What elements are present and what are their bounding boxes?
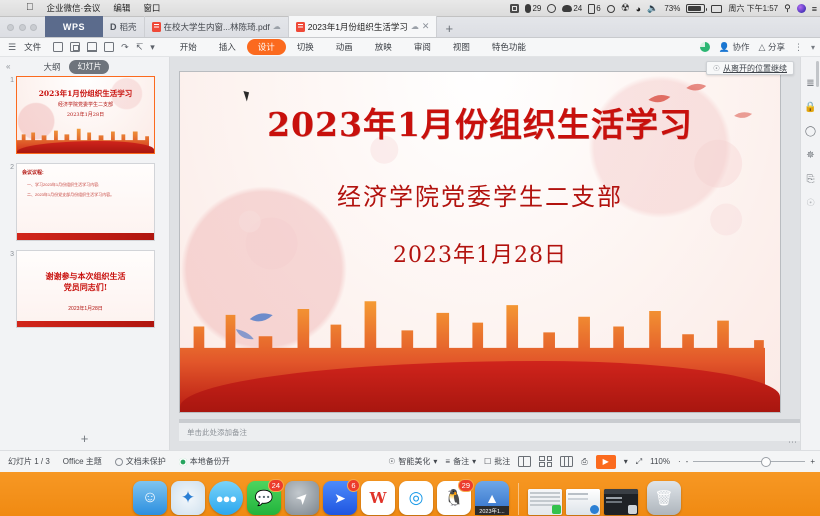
bluetooth-icon[interactable]: ☢ (621, 3, 630, 14)
cloud-sync-icon[interactable]: ☁ (411, 22, 419, 31)
screen:  企业微信·会议 编辑 窗口 29 24 6 ☢ ◕ 🔈 73% 周六 下午1… (0, 0, 820, 516)
slide-date[interactable]: 2023年1月28日 (180, 237, 780, 269)
screenshot-icon[interactable]: ⎘ (804, 173, 817, 186)
dropbox-count: 29 (532, 4, 541, 13)
share-label: 分享 (768, 41, 785, 53)
docer-icon: D (110, 22, 117, 32)
thumb-date: 2023年1月28日 (17, 111, 154, 118)
person-icon: 👤 (719, 42, 730, 53)
hamburger-icon[interactable]: ☰ (8, 42, 16, 53)
keyboard-layout-icon[interactable] (711, 5, 722, 13)
apple-icon[interactable]:  (26, 3, 34, 13)
minimized-window-wechat[interactable] (528, 489, 562, 515)
zoom-reset-icon[interactable]: · (678, 457, 681, 466)
pdf-file-icon (152, 22, 161, 32)
wps-w-icon: W (370, 489, 387, 507)
file-menu-button[interactable]: 文件 (24, 41, 41, 53)
clock-label[interactable]: 周六 下午1:57 (728, 3, 778, 14)
share-icon: △ (759, 42, 766, 53)
menu-item-edit[interactable]: 编辑 (113, 2, 130, 14)
quick-access-toolbar: ↷ ↸ ▾ (53, 42, 155, 53)
slide-number: 3 (0, 250, 14, 258)
slide-sorter-icon[interactable] (539, 456, 552, 467)
slide-title[interactable]: 2023年1月份组织生活学习 (180, 98, 780, 146)
dock-item-messages[interactable]: ●●● (209, 481, 243, 515)
volume-icon[interactable]: 🔈 (647, 3, 658, 14)
dock-item-qq[interactable]: 🐧 29 (437, 481, 471, 515)
play-options-icon[interactable]: ▾ (624, 457, 628, 466)
wechat-badge-icon (552, 505, 561, 514)
tab-pdf-document[interactable]: 在校大学生内窗...林陈琦.pdf ☁ (145, 16, 289, 37)
add-slide-button[interactable]: + (0, 431, 169, 446)
finder-icon: ☺ (142, 489, 158, 507)
presenter-view-icon[interactable]: ⎙ (581, 457, 587, 467)
thumb-title-line1: 谢谢参与本次组织生活 (46, 271, 126, 281)
print-icon[interactable] (87, 42, 97, 52)
dock-item-finder[interactable]: ☺ (133, 481, 167, 515)
search-icon[interactable]: ⚲ (784, 3, 791, 14)
browser-badge-icon (590, 505, 599, 514)
collaborate-label: 协作 (733, 41, 750, 53)
close-tab-icon[interactable]: ✕ (422, 21, 430, 32)
wechat-icon: 💬 (255, 489, 274, 507)
comment-icon: ☐ (484, 457, 491, 466)
slide-thumbnail-2[interactable]: 会议议程: 一、学习2023年1月份组织生活学习内容; 二、2023年1月份党支… (16, 163, 155, 241)
backup-label: 本地备份开 (190, 456, 230, 467)
wechat-status-icon[interactable]: 24 (562, 4, 582, 13)
preview-lines (568, 493, 588, 495)
collapse-left-icon[interactable]: « (6, 62, 10, 71)
more-vertical-icon[interactable]: ⋮ (794, 42, 802, 53)
siri-icon[interactable] (547, 4, 556, 13)
status-right-group: ☉ 智能美化 ▾ ≡ 备注 ▾ ☐ 批注 ⎙ ▶ ▾ ⤢ 110% · (388, 455, 815, 469)
slide-number: 2 (0, 163, 14, 171)
cloud-sync-icon[interactable]: ☁ (273, 22, 281, 31)
panel-header: « 大纲 幻灯片 (0, 57, 169, 76)
notes-button[interactable]: ≡ 备注 ▾ (445, 456, 476, 467)
redo-icon[interactable]: ↸ (136, 42, 144, 53)
os-menu-bar:  企业微信·会议 编辑 窗口 29 24 6 ☢ ◕ 🔈 73% 周六 下午1… (0, 0, 820, 17)
tab-label: 2023年1月份组织生活学习 (308, 21, 408, 33)
slide-number: 1 (0, 76, 14, 84)
fit-to-window-icon[interactable]: ⤢ (636, 457, 642, 467)
app-count: 6 (596, 4, 600, 13)
maximize-window-button[interactable] (30, 24, 37, 31)
dock-item-wps-presentation[interactable]: ▲ 2023年1... (475, 481, 509, 515)
save-icon[interactable] (53, 42, 63, 52)
theme-label[interactable]: Office 主题 (63, 456, 102, 467)
zoom-slider[interactable]: · - + (678, 457, 815, 466)
tab-label: 稻壳 (120, 21, 137, 33)
outline-tab[interactable]: 大纲 (43, 61, 60, 73)
preview-lines (606, 497, 622, 499)
dropbox-icon[interactable]: 29 (525, 4, 541, 13)
list-item[interactable]: 1 2023年1月份组织生活学习 经济学院党委学生二支部 2023年1月28日 (0, 76, 169, 154)
wps-logo[interactable]: WPS (45, 16, 103, 37)
tab-docer[interactable]: D 稻壳 (103, 16, 145, 37)
zoom-track[interactable] (693, 461, 805, 462)
badge-count: 6 (347, 479, 360, 492)
ribbon-right-actions: 👤 协作 △ 分享 ⋮ ▾ (700, 41, 815, 53)
history-clock-icon[interactable]: ◯ (804, 125, 817, 138)
right-tool-rail: ≣ 🔒 ◯ ✵ ⎘ ☉ (800, 57, 820, 450)
rocket-icon: ➤ (291, 487, 313, 509)
protection-label: 文档未保护 (126, 456, 166, 467)
calendar-icon[interactable] (510, 4, 519, 13)
resume-position-tooltip[interactable]: ☉ 从离开的位置继续 (706, 61, 794, 75)
beautify-label: 智能美化 (398, 456, 430, 467)
dock-item-wechat[interactable]: 💬 24 (247, 481, 281, 515)
slide-subtitle[interactable]: 经济学院党委学生二支部 (180, 177, 780, 212)
dock-item-label: 2023年1... (475, 506, 509, 515)
tab-strip: WPS D 稻壳 在校大学生内窗...林陈琦.pdf ☁ 2023年1月份组织生… (0, 17, 820, 38)
zoom-out-button[interactable]: - (686, 457, 689, 466)
ribbon-tabs: 开始 插入 设计 切换 动画 放映 审阅 视图 特色功能 (169, 39, 537, 55)
notes-pane[interactable]: 单击此处添加备注 (179, 419, 800, 441)
slide-thumbnail-3[interactable]: 谢谢参与本次组织生活 党员同志们! 2023年1月28日 (16, 250, 155, 328)
more-horizontal-icon[interactable]: ⋯ (788, 437, 796, 448)
speech-bubble-icon: ●●● (216, 491, 237, 506)
beautify-icon: ☉ (388, 457, 395, 466)
zoom-level-label[interactable]: 110% (650, 457, 670, 466)
badge-count: 24 (268, 479, 284, 492)
slides-tab[interactable]: 幻灯片 (69, 60, 109, 74)
badge-count: 29 (458, 479, 474, 492)
wechat-count: 24 (573, 4, 582, 13)
slide-counter[interactable]: 幻灯片 1 / 3 (8, 456, 50, 467)
tab-animations[interactable]: 动画 (325, 41, 364, 53)
minimize-window-button[interactable] (19, 24, 26, 31)
dock-item-qq-browser[interactable]: ◎ (399, 481, 433, 515)
notes-placeholder[interactable]: 单击此处添加备注 (179, 423, 800, 438)
backup-on-icon (179, 458, 187, 466)
tab-slideshow[interactable]: 放映 (364, 41, 403, 53)
tab-view[interactable]: 视图 (442, 41, 481, 53)
thumb-subtitle: 经济学院党委学生二支部 (17, 101, 154, 108)
dock-item-trash[interactable]: 🗑 (647, 481, 681, 515)
notification-list-icon[interactable]: ≡ (812, 4, 816, 14)
menu-item-app-name[interactable]: 企业微信·会议 (47, 2, 101, 14)
os-status-items: 29 24 6 ☢ ◕ 🔈 73% 周六 下午1:57 ⚲ ≡ (510, 0, 816, 17)
beautify-star-icon[interactable]: ✵ (804, 149, 817, 162)
footer-band (17, 321, 154, 327)
tab-transitions[interactable]: 切换 (286, 41, 325, 53)
comment-label: 批注 (494, 456, 510, 467)
dock: ☺ ✦ ●●● 💬 24 ➤ ➤ 6 (0, 472, 820, 516)
app-status-icon[interactable]: 6 (588, 4, 600, 14)
tab-insert[interactable]: 插入 (208, 41, 247, 53)
dock-divider (518, 483, 519, 515)
minimized-window-terminal[interactable] (604, 489, 638, 515)
new-tab-button[interactable]: + (437, 22, 461, 37)
resume-label: 从离开的位置继续 (723, 63, 787, 74)
wifi-icon[interactable]: ◕ (636, 4, 641, 14)
list-item[interactable]: 3 谢谢参与本次组织生活 党员同志们! 2023年1月28日 (0, 250, 169, 328)
dock-item-wps-office[interactable]: W (361, 481, 395, 515)
terminal-badge-icon (628, 505, 637, 514)
status-bar: 幻灯片 1 / 3 Office 主题 文档未保护 本地备份开 ☉ 智能美化 ▾… (0, 450, 820, 472)
location-history-icon: ☉ (713, 64, 720, 73)
zoom-in-button[interactable]: + (810, 457, 815, 466)
dock-items: ☺ ✦ ●●● 💬 24 ➤ ➤ 6 (133, 481, 681, 515)
thumb-title: 2023年1月份组织生活学习 (17, 88, 154, 99)
list-item[interactable]: 2 会议议程: 一、学习2023年1月份组织生活学习内容; 二、2023年1月份… (0, 163, 169, 241)
smart-beautify-button[interactable]: ☉ 智能美化 ▾ (388, 456, 437, 467)
print-preview-icon[interactable] (104, 42, 114, 52)
slide-thumbnail-list[interactable]: 1 2023年1月份组织生活学习 经济学院党委学生二支部 2023年1月28日 (0, 76, 169, 424)
close-window-button[interactable] (7, 24, 14, 31)
thumb-line-2: 二、2023年1月份党支部月份组织生活学习内容。 (27, 191, 149, 199)
customize-icon[interactable]: ▾ (150, 42, 155, 53)
preview-lines (530, 492, 560, 494)
battery-icon[interactable] (686, 4, 705, 13)
backup-status[interactable]: 本地备份开 (179, 456, 230, 467)
slide-thumbnail-1[interactable]: 2023年1月份组织生活学习 经济学院党委学生二支部 2023年1月28日 (16, 76, 155, 154)
battery-percent: 73% (664, 4, 680, 13)
dock-item-safari[interactable]: ✦ (171, 481, 205, 515)
current-slide[interactable]: 2023年1月份组织生活学习 经济学院党委学生二支部 2023年1月28日 (179, 71, 781, 413)
paper-plane-icon: ➤ (334, 490, 346, 507)
thumb-title-line2: 党员同志们! (64, 282, 108, 292)
protection-status[interactable]: 文档未保护 (115, 456, 166, 467)
trash-icon: 🗑 (654, 489, 673, 507)
chevron-down-icon: ▾ (472, 457, 476, 466)
lock-shield-icon[interactable]: 🔒 (804, 101, 817, 114)
status-left-group: 幻灯片 1 / 3 Office 主题 文档未保护 本地备份开 (0, 456, 230, 467)
power-icon[interactable] (607, 5, 615, 13)
share-button[interactable]: △ 分享 (759, 41, 785, 53)
chevron-down-icon[interactable]: ▾ (811, 43, 815, 52)
mountain-icon: ▲ (485, 490, 499, 506)
sync-status-icon[interactable] (700, 42, 710, 52)
window-controls[interactable] (0, 24, 37, 37)
qq-browser-icon: ◎ (409, 488, 424, 508)
reading-view-icon[interactable] (560, 456, 573, 467)
notes-icon: ≡ (445, 457, 450, 466)
normal-view-icon[interactable] (518, 456, 531, 467)
tab-start[interactable]: 开始 (169, 41, 208, 53)
safari-compass-icon: ✦ (181, 488, 195, 508)
play-slideshow-button[interactable]: ▶ (596, 455, 616, 469)
tab-review[interactable]: 审阅 (403, 41, 442, 53)
notes-label: 备注 (453, 456, 469, 467)
help-circle-icon[interactable]: ☉ (804, 197, 817, 210)
preview-titlebar (604, 489, 638, 494)
chevron-down-icon: ▾ (433, 457, 437, 466)
tab-special-features[interactable]: 特色功能 (481, 41, 537, 53)
slide-navigator-panel: « 大纲 幻灯片 1 2023年1月份组织生活学习 经济学院党委学生二支部 (0, 57, 170, 450)
menu-item-window[interactable]: 窗口 (143, 2, 160, 14)
tab-design[interactable]: 设计 (247, 39, 286, 55)
footer-band (17, 233, 154, 240)
slide-edit-area[interactable]: 2023年1月份组织生活学习 经济学院党委学生二支部 2023年1月28日 ☉ … (170, 57, 800, 450)
tab-label: 在校大学生内窗...林陈琦.pdf (164, 21, 270, 33)
thumb-line-1: 一、学习2023年1月份组织生活学习内容; (27, 181, 149, 189)
tab-active-presentation[interactable]: 2023年1月份组织生活学习 ☁ ✕ (289, 16, 438, 37)
ribbon-bar: ☰ 文件 ↷ ↸ ▾ 开始 插入 设计 切换 动画 放映 审阅 视图 特色功能 … (0, 38, 820, 57)
siri-orb-icon[interactable] (797, 4, 806, 13)
dock-item-launchpad[interactable]: ➤ (285, 481, 319, 515)
thumb-title: 会议议程: (22, 169, 44, 176)
minimized-window-browser[interactable] (566, 489, 600, 515)
scrollbar-thumb[interactable] (816, 61, 819, 87)
shield-icon (115, 458, 123, 466)
ppt-file-icon (296, 22, 305, 32)
undo-icon[interactable]: ↷ (121, 42, 129, 53)
collaborate-button[interactable]: 👤 协作 (719, 41, 750, 53)
save-as-icon[interactable] (70, 42, 80, 52)
thumb-date: 2023年1月28日 (17, 305, 154, 312)
dock-item-feishu[interactable]: ➤ 6 (323, 481, 357, 515)
comment-button[interactable]: ☐ 批注 (484, 456, 510, 467)
